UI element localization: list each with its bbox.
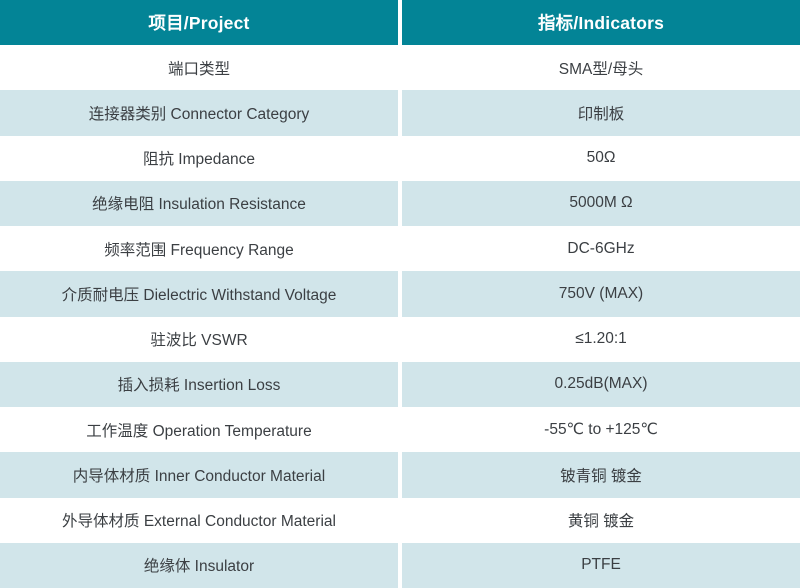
cell-project: 连接器类别 Connector Category	[0, 90, 398, 135]
table-row: 频率范围 Frequency Range DC-6GHz	[0, 226, 800, 271]
table-row: 驻波比 VSWR ≤1.20:1	[0, 317, 800, 362]
table-row: 工作温度 Operation Temperature -55℃ to +125℃	[0, 407, 800, 452]
cell-project: 绝缘电阻 Insulation Resistance	[0, 181, 398, 226]
column-header-project: 项目/Project	[0, 0, 398, 45]
table-row: 介质耐电压 Dielectric Withstand Voltage 750V …	[0, 271, 800, 316]
table-header-row: 项目/Project 指标/Indicators	[0, 0, 800, 45]
table-row: 内导体材质 Inner Conductor Material 铍青铜 镀金	[0, 452, 800, 497]
cell-project: 介质耐电压 Dielectric Withstand Voltage	[0, 271, 398, 316]
cell-project: 频率范围 Frequency Range	[0, 226, 398, 271]
table-row: 插入损耗 Insertion Loss 0.25dB(MAX)	[0, 362, 800, 407]
cell-indicator: SMA型/母头	[402, 45, 800, 90]
specification-table: 项目/Project 指标/Indicators 端口类型 SMA型/母头 连接…	[0, 0, 800, 588]
cell-indicator: 印制板	[402, 90, 800, 135]
cell-project: 外导体材质 External Conductor Material	[0, 498, 398, 543]
cell-project: 内导体材质 Inner Conductor Material	[0, 452, 398, 497]
cell-indicator: PTFE	[402, 543, 800, 588]
cell-project: 工作温度 Operation Temperature	[0, 407, 398, 452]
cell-project: 插入损耗 Insertion Loss	[0, 362, 398, 407]
cell-indicator: 0.25dB(MAX)	[402, 362, 800, 407]
table-row: 绝缘电阻 Insulation Resistance 5000M Ω	[0, 181, 800, 226]
cell-indicator: 铍青铜 镀金	[402, 452, 800, 497]
cell-indicator: DC-6GHz	[402, 226, 800, 271]
column-header-indicators: 指标/Indicators	[402, 0, 800, 45]
cell-indicator: 50Ω	[402, 136, 800, 181]
table-row: 外导体材质 External Conductor Material 黄铜 镀金	[0, 498, 800, 543]
cell-indicator: 黄铜 镀金	[402, 498, 800, 543]
cell-project: 阻抗 Impedance	[0, 136, 398, 181]
table-row: 绝缘体 Insulator PTFE	[0, 543, 800, 588]
cell-indicator: 750V (MAX)	[402, 271, 800, 316]
table-row: 连接器类别 Connector Category 印制板	[0, 90, 800, 135]
cell-project: 驻波比 VSWR	[0, 317, 398, 362]
table-row: 端口类型 SMA型/母头	[0, 45, 800, 90]
cell-indicator: -55℃ to +125℃	[402, 407, 800, 452]
table-row: 阻抗 Impedance 50Ω	[0, 136, 800, 181]
cell-indicator: ≤1.20:1	[402, 317, 800, 362]
cell-project: 端口类型	[0, 45, 398, 90]
cell-indicator: 5000M Ω	[402, 181, 800, 226]
cell-project: 绝缘体 Insulator	[0, 543, 398, 588]
